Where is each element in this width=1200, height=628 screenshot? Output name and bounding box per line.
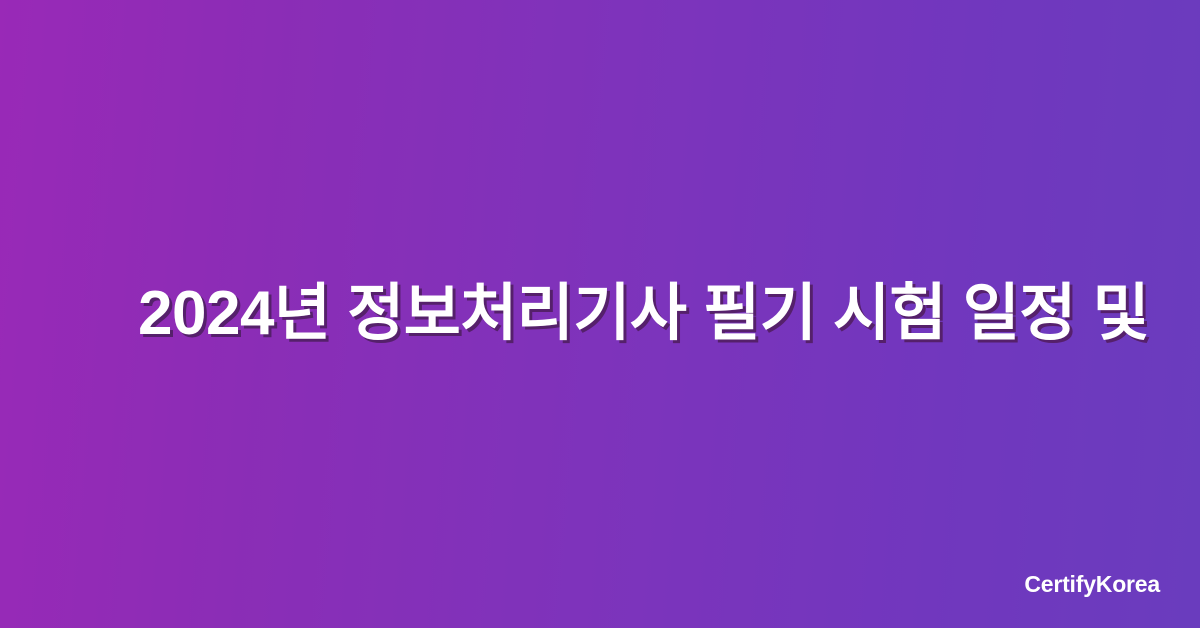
- page-title: 2024년 정보처리기사 필기 시험 일정 및: [138, 277, 1149, 350]
- share-card: 2024년 정보처리기사 필기 시험 일정 및 CertifyKorea: [0, 0, 1200, 628]
- headline-area: 2024년 정보처리기사 필기 시험 일정 및: [0, 0, 1200, 628]
- brand-wordmark: CertifyKorea: [1024, 571, 1160, 598]
